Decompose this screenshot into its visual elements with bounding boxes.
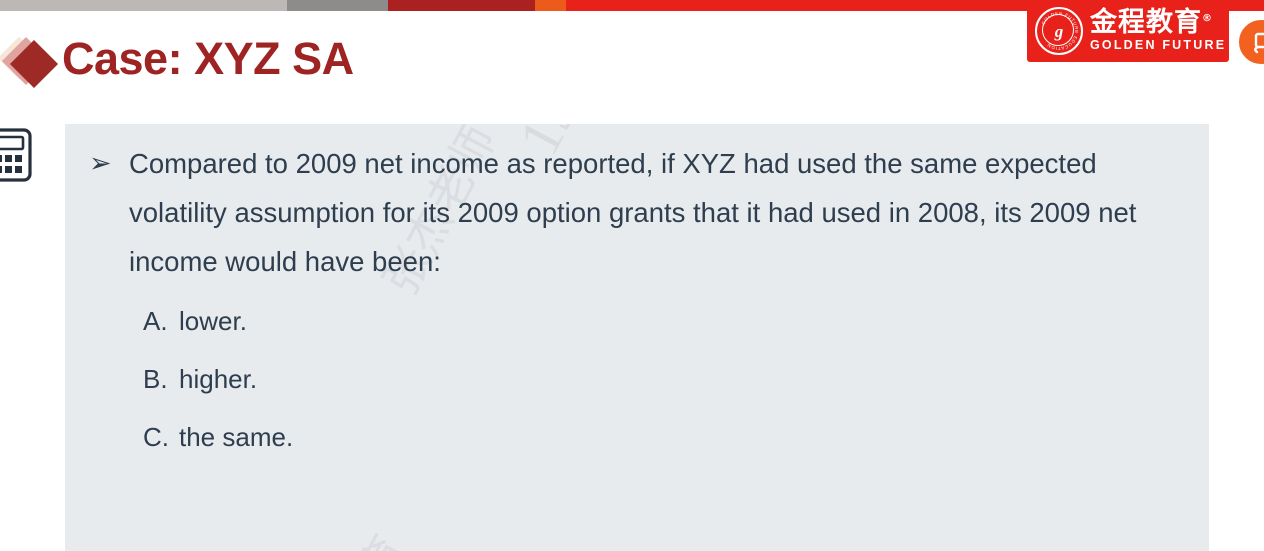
brand-wordmark: 金程教育® GOLDEN FUTURE [1090,9,1226,53]
answer-choices-list: A. lower. B. higher. C. the same. [143,292,1043,466]
choice-letter-b: B. [143,364,179,395]
golden-future-seal-icon: GOLDEN FUTURE EDUCATION g [1035,7,1083,55]
watermark-chinese-2: 金程教育 [275,522,420,551]
seal-monogram: g [1055,23,1064,40]
topbar-segment-dark-gray [287,0,388,11]
calculator-icon[interactable] [0,128,34,182]
choice-label-c: the same. [179,422,1043,453]
content-panel: 15660817 张杰老师 金程教育 ➢ Compared to 2009 ne… [65,124,1209,551]
badge-glyph-icon [1246,27,1264,57]
registered-mark: ® [1202,13,1213,24]
diamond-bullet-icon [4,37,60,93]
topbar-segment-light-gray [0,0,287,11]
answer-choice-b[interactable]: B. higher. [143,350,1043,408]
brand-chinese-name: 金程教育® [1090,9,1226,37]
answer-choice-a[interactable]: A. lower. [143,292,1043,350]
bullet-arrow-icon: ➢ [85,139,129,286]
answer-choice-c[interactable]: C. the same. [143,408,1043,466]
page-title: Case: XYZ SA [62,33,354,85]
question-block: ➢ Compared to 2009 net income as reporte… [85,139,1185,286]
brand-english-name: GOLDEN FUTURE [1090,38,1226,53]
choice-letter-a: A. [143,306,179,337]
choice-label-b: higher. [179,364,1043,395]
choice-letter-c: C. [143,422,179,453]
brand-chinese-text: 金程教育 [1090,7,1202,38]
brand-logo: GOLDEN FUTURE EDUCATION g 金程教育® GOLDEN F… [1027,0,1229,62]
question-text: Compared to 2009 net income as reported,… [129,139,1185,286]
topbar-segment-dark-red [388,0,535,11]
topbar-segment-orange [535,0,566,11]
choice-label-a: lower. [179,306,1043,337]
